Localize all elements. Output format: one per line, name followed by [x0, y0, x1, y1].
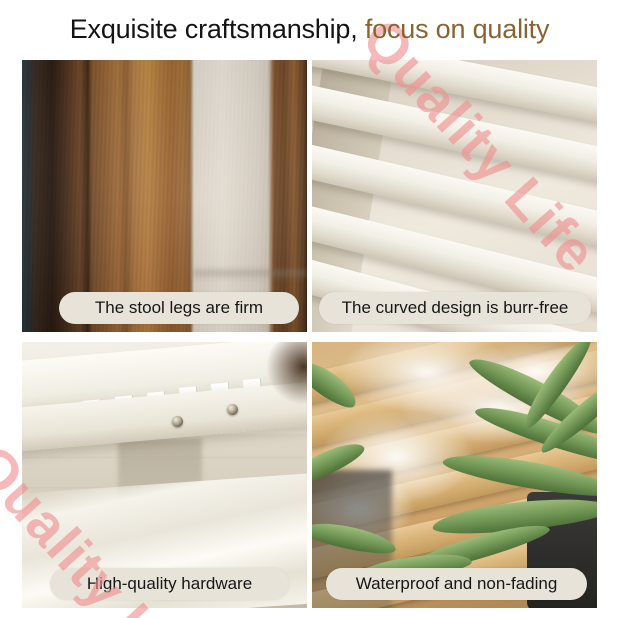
feature-panel-curved-design: The curved design is burr-free [312, 60, 597, 332]
infographic-page: Exquisite craftsmanship, focus on qualit… [0, 0, 619, 618]
caption-curved-design: The curved design is burr-free [319, 292, 591, 324]
screw-icon [172, 416, 183, 427]
feature-panel-waterproof: Waterproof and non-fading [312, 342, 597, 608]
caption-stool-legs: The stool legs are firm [59, 292, 299, 324]
feature-panel-hardware: High-quality hardware [22, 342, 307, 608]
caption-hardware: High-quality hardware [50, 568, 289, 600]
page-title-primary: Exquisite craftsmanship, [70, 14, 358, 44]
screw-icon [227, 404, 238, 415]
page-title: Exquisite craftsmanship, focus on qualit… [0, 12, 619, 46]
feature-panel-stool-legs: The stool legs are firm [22, 60, 307, 332]
feature-grid: The stool legs are firm The curved desig… [22, 60, 597, 608]
caption-waterproof: Waterproof and non-fading [326, 568, 587, 600]
page-title-accent: focus on quality [358, 14, 550, 44]
